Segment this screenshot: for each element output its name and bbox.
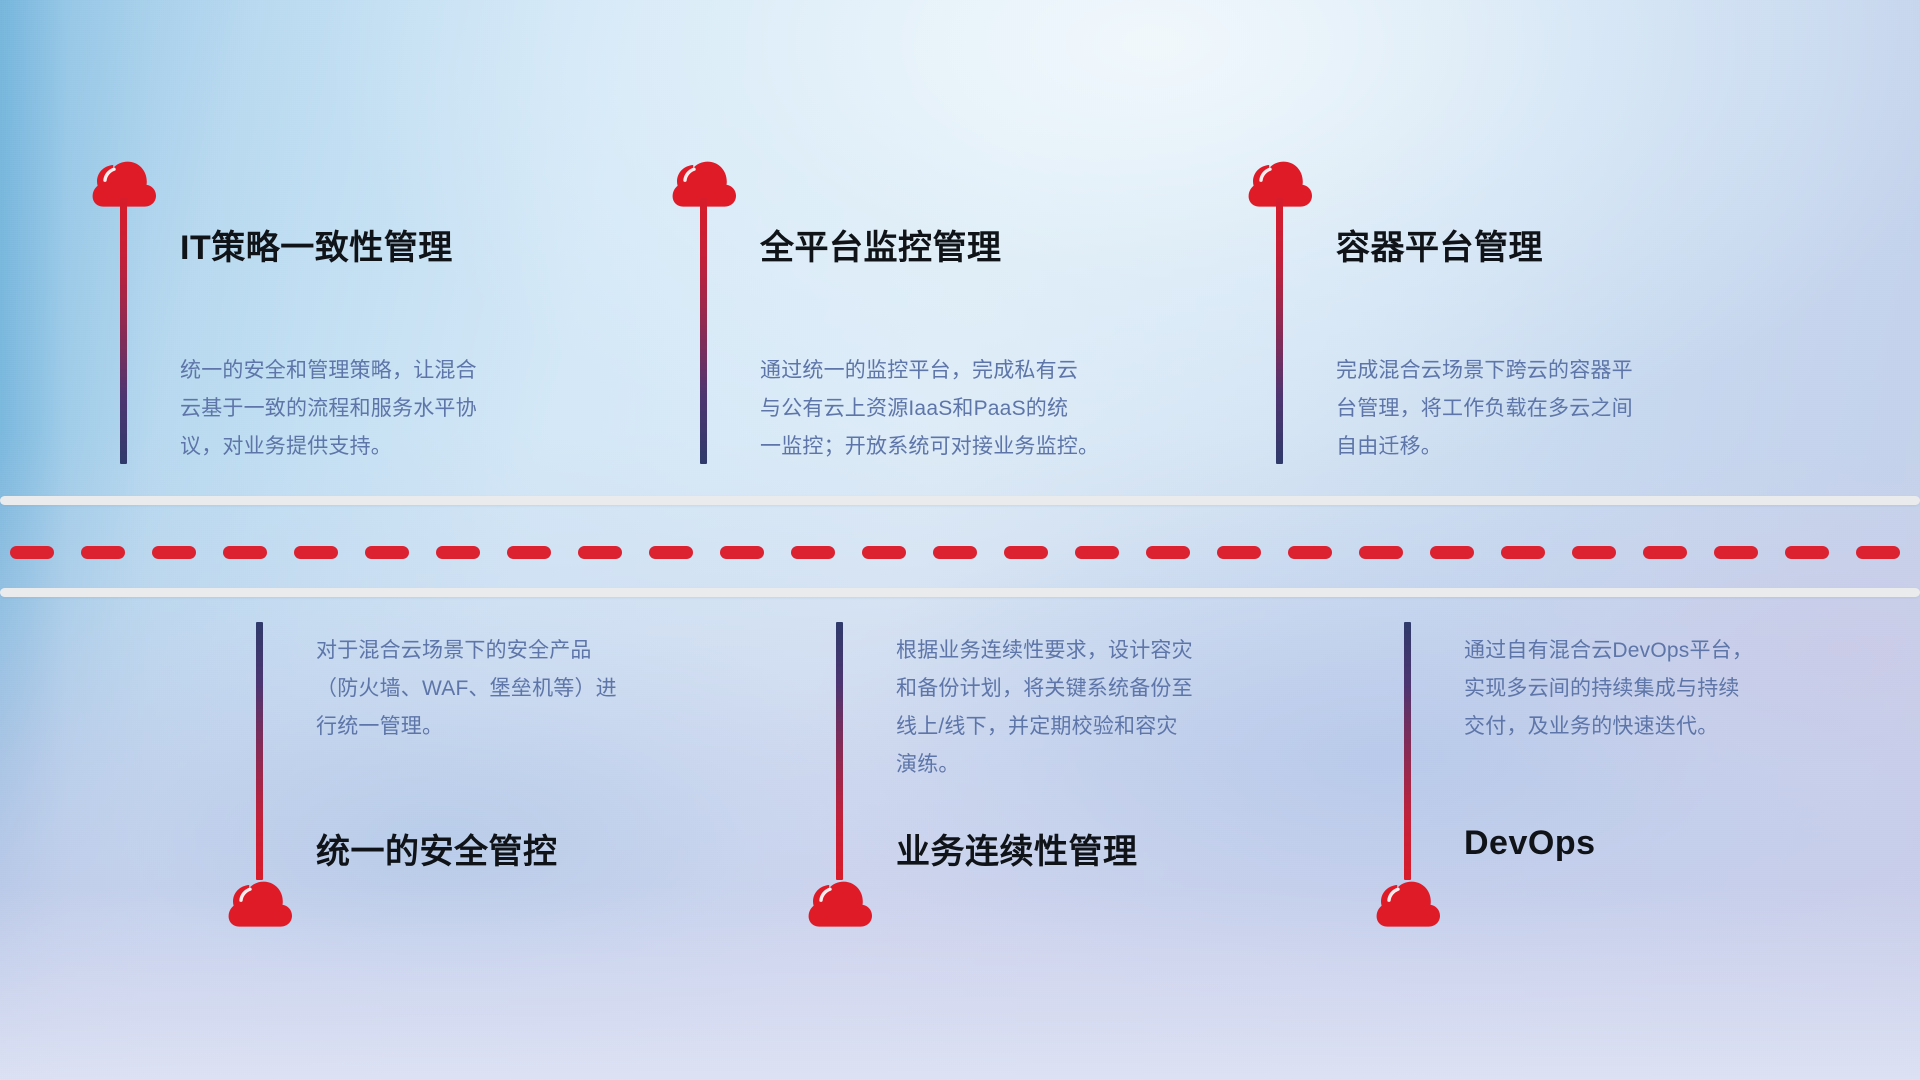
road-edge-top xyxy=(0,496,1920,505)
connector-stem xyxy=(836,622,843,880)
road-edge-bottom xyxy=(0,588,1920,597)
section-description: 通过自有混合云DevOps平台， 实现多云间的持续集成与持续 交付，及业务的快速… xyxy=(1464,632,1904,746)
cloud-icon xyxy=(1376,880,1440,927)
section-description: 通过统一的监控平台，完成私有云 与公有云上资源IaaS和PaaS的统 一监控；开… xyxy=(760,352,1230,466)
section-description: 完成混合云场景下跨云的容器平 台管理，将工作负载在多云之间 自由迁移。 xyxy=(1336,352,1786,466)
section-title: 统一的安全管控 xyxy=(316,824,558,873)
section-description: 根据业务连续性要求，设计容灾 和备份计划，将关键系统备份至 线上/线下，并定期校… xyxy=(896,632,1346,784)
connector-stem xyxy=(1276,198,1283,464)
section-title: 容器平台管理 xyxy=(1336,220,1543,269)
section-title: 业务连续性管理 xyxy=(896,824,1138,873)
cloud-icon xyxy=(808,880,872,927)
cloud-icon xyxy=(228,880,292,927)
connector-stem xyxy=(256,622,263,880)
road-center-dashes xyxy=(0,546,1920,559)
connector-stem xyxy=(120,198,127,464)
connector-stem xyxy=(1404,622,1411,880)
section-description: 对于混合云场景下的安全产品 （防火墙、WAF、堡垒机等）进 行统一管理。 xyxy=(316,632,756,746)
section-title: IT策略一致性管理 xyxy=(180,220,453,269)
connector-stem xyxy=(700,198,707,464)
section-description: 统一的安全和管理策略，让混合 云基于一致的流程和服务水平协 议，对业务提供支持。 xyxy=(180,352,620,466)
section-title: DevOps xyxy=(1464,824,1596,863)
section-title: 全平台监控管理 xyxy=(760,220,1002,269)
infographic-canvas: IT策略一致性管理 统一的安全和管理策略，让混合 云基于一致的流程和服务水平协 … xyxy=(0,0,1920,1080)
